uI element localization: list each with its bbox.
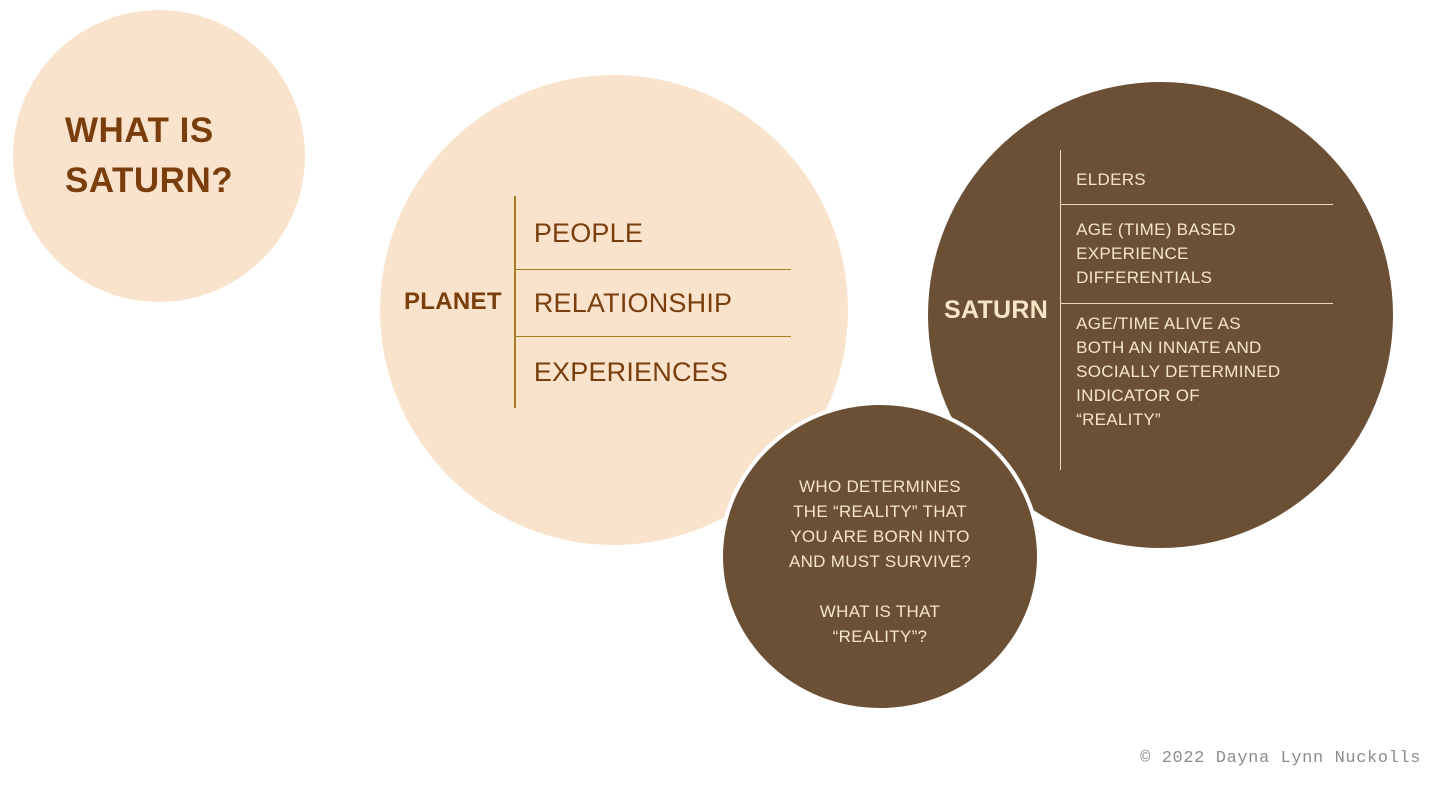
planet-item-people: PEOPLE xyxy=(516,197,791,269)
question-bubble-text: WHO DETERMINES THE “REALITY” THAT YOU AR… xyxy=(789,474,971,649)
planet-item-list: PEOPLE RELATIONSHIP EXPERIENCES xyxy=(514,196,791,408)
saturn-item-experience-differentials: AGE (TIME) BASED EXPERIENCE DIFFERENTIAL… xyxy=(1061,204,1333,304)
planet-item-experiences: EXPERIENCES xyxy=(516,337,791,407)
title-bubble: WHAT IS SATURN? xyxy=(13,10,305,302)
saturn-item-list: ELDERS AGE (TIME) BASED EXPERIENCE DIFFE… xyxy=(1060,150,1333,470)
slide-canvas: WHAT IS SATURN? PLANET PEOPLE RELATIONSH… xyxy=(0,0,1445,792)
planet-label: PLANET xyxy=(404,288,514,316)
saturn-group: SATURN ELDERS AGE (TIME) BASED EXPERIENC… xyxy=(944,150,1374,470)
saturn-item-elders: ELDERS xyxy=(1061,156,1333,204)
planet-group: PLANET PEOPLE RELATIONSHIP EXPERIENCES xyxy=(404,196,824,408)
copyright-notice: © 2022 Dayna Lynn Nuckolls xyxy=(1140,749,1421,768)
page-title: WHAT IS SATURN? xyxy=(65,106,233,206)
planet-item-relationship: RELATIONSHIP xyxy=(516,269,791,337)
saturn-label: SATURN xyxy=(944,296,1060,325)
saturn-item-reality-indicator: AGE/TIME ALIVE AS BOTH AN INNATE AND SOC… xyxy=(1061,304,1333,434)
